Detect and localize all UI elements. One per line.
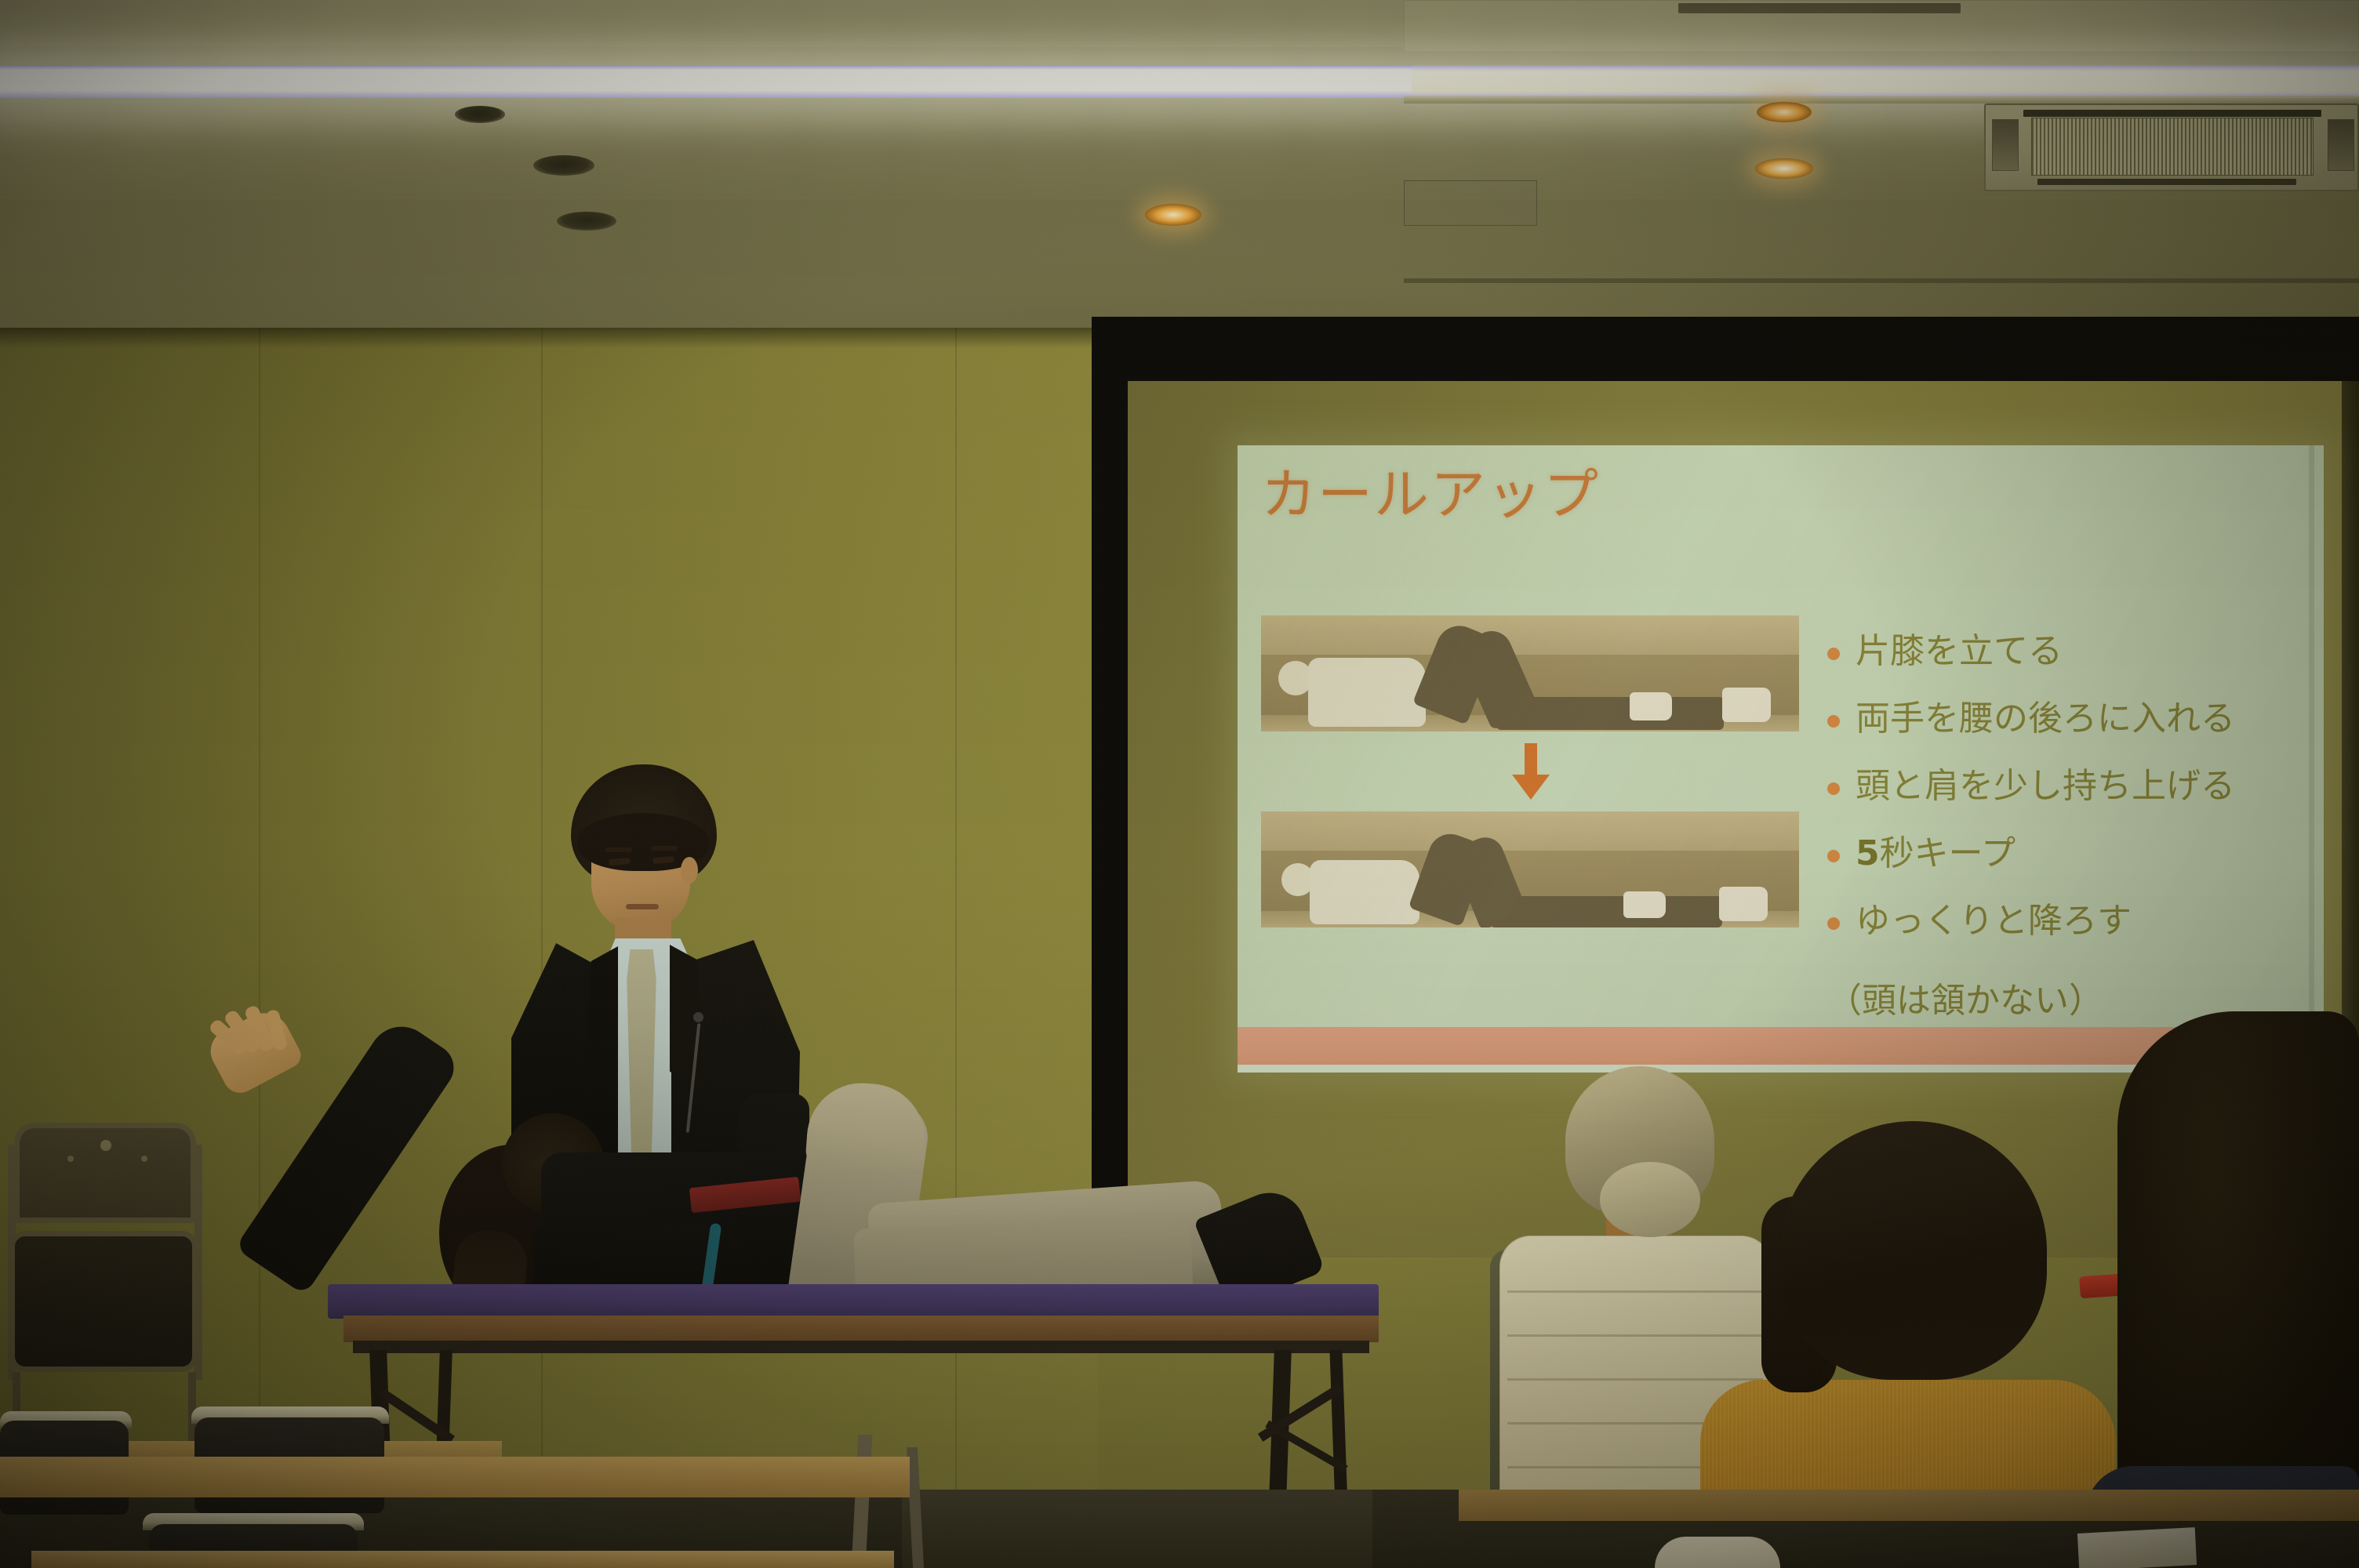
- slide-right-seam: [2309, 445, 2314, 1027]
- chair-backrest: [14, 1123, 196, 1223]
- foreground-desk: [0, 1457, 910, 1497]
- presenter-eyebrow: [651, 846, 678, 851]
- chair-seat: [9, 1231, 198, 1372]
- ceiling-access-panel: [1404, 180, 1537, 226]
- presenter-eyebrow: [605, 848, 632, 852]
- ac-side-vent-icon: [1992, 119, 2019, 171]
- ac-louver-icon: [2023, 110, 2321, 117]
- fluorescent-strip-light-right: [1412, 65, 2359, 98]
- downlight-on-icon: [1145, 204, 1201, 226]
- seminar-room-photo: カールアップ 片膝を立てる: [0, 0, 2359, 1568]
- folding-chair: [8, 1123, 204, 1444]
- audience-hair: [1780, 1121, 2047, 1380]
- ac-louver-icon: [2037, 179, 2296, 185]
- demo-table-apron: [353, 1341, 1369, 1353]
- slide-projection-tint: [1238, 445, 2324, 1073]
- downlight-off-icon: [533, 155, 594, 176]
- downlight-off-icon: [455, 106, 505, 123]
- ceiling-rail: [1404, 278, 2359, 283]
- chair-rivet: [67, 1156, 74, 1162]
- downlight-off-icon: [557, 212, 616, 230]
- wall-panel-seam: [955, 328, 957, 1568]
- downlight-on-icon: [1755, 158, 1813, 179]
- downlight-on-icon: [1757, 102, 1812, 122]
- ceiling-shelf-edge: [1404, 96, 2359, 103]
- foreground-desk-front: [31, 1551, 894, 1568]
- chair-rivet: [100, 1140, 111, 1151]
- chair-rivet: [141, 1156, 147, 1162]
- ac-grille-icon: [2031, 118, 2314, 176]
- demo-table-mat: [328, 1284, 1379, 1319]
- audience-desk: [1459, 1490, 2359, 1521]
- audience-hair-bun: [1600, 1162, 1700, 1237]
- ac-side-vent-icon: [2328, 119, 2354, 171]
- presenter-ear: [681, 857, 698, 884]
- wall-panel-seam: [259, 328, 260, 1568]
- audience-headrest: [1655, 1537, 1780, 1568]
- demo-table-top: [343, 1316, 1379, 1342]
- lapel-microphone-icon: [693, 1012, 703, 1022]
- floor-mid: [902, 1490, 1372, 1568]
- wall-top-shadow: [0, 328, 1129, 348]
- presenter-mouth: [626, 904, 659, 909]
- ceiling-vent-slot-icon: [1678, 3, 1961, 13]
- handout-paper: [2077, 1527, 2197, 1568]
